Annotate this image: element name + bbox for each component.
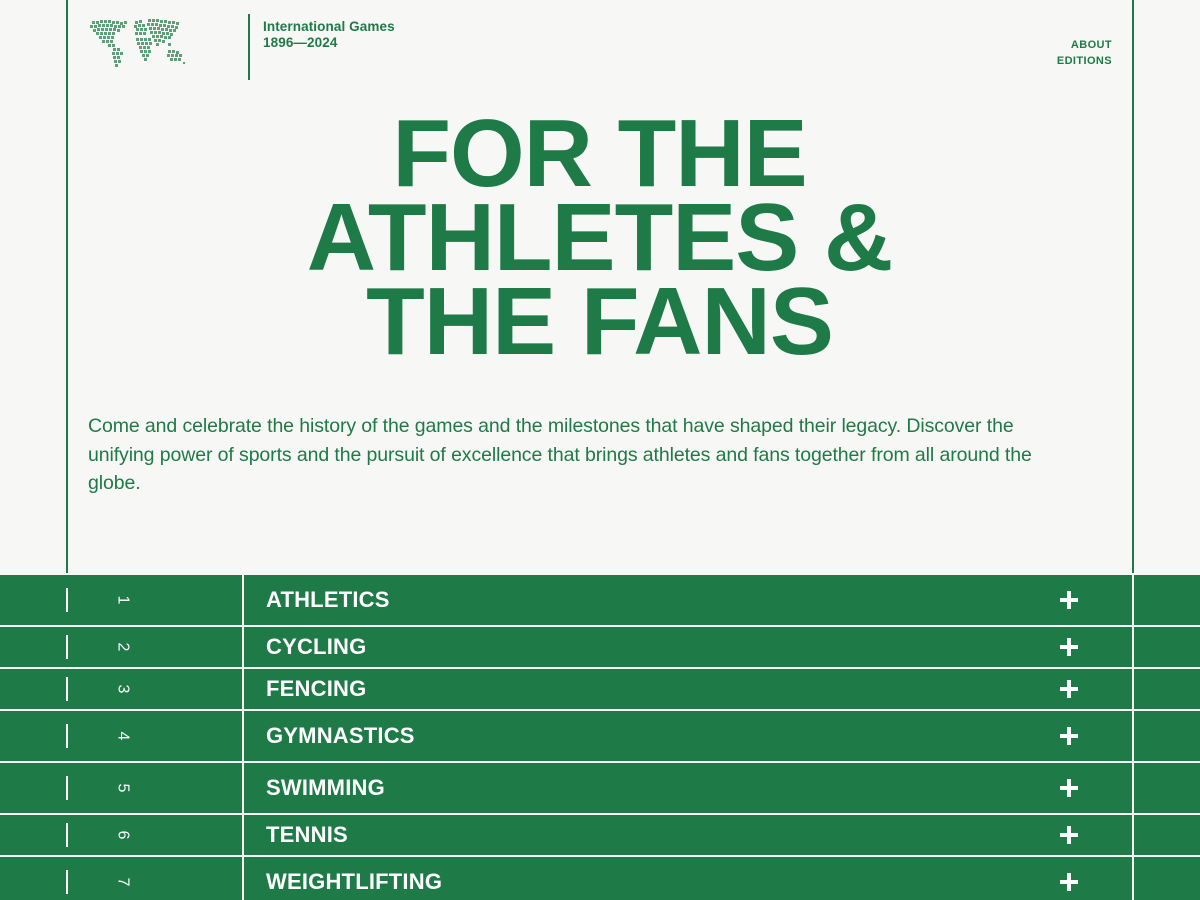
list-item[interactable]: 7 WEIGHTLIFTING xyxy=(0,857,1200,900)
row-number: 1 xyxy=(0,591,244,609)
site-header: International Games 1896—2024 ABOUT EDIT… xyxy=(0,0,1200,95)
row-label: SWIMMING xyxy=(244,775,1200,801)
sports-list: 1 ATHLETICS 2 CYCLING 3 FENCING xyxy=(0,573,1200,900)
row-label: GYMNASTICS xyxy=(244,723,1200,749)
row-right-rule xyxy=(1132,857,1134,900)
row-number: 5 xyxy=(0,779,244,797)
list-item[interactable]: 1 ATHLETICS xyxy=(0,575,1200,627)
list-item[interactable]: 6 TENNIS xyxy=(0,815,1200,857)
row-label: CYCLING xyxy=(244,634,1200,660)
row-number-cell: 7 xyxy=(0,857,244,900)
page-title: FOR THE ATHLETES & THE FANS xyxy=(67,112,1132,364)
row-right-rule xyxy=(1132,627,1134,667)
row-number: 2 xyxy=(0,638,244,656)
row-label: TENNIS xyxy=(244,822,1200,848)
row-right-rule xyxy=(1132,815,1134,855)
row-number-cell: 5 xyxy=(0,763,244,813)
brand-line-1: International Games xyxy=(263,19,395,35)
row-number-cell: 6 xyxy=(0,815,244,855)
row-number-text: 1 xyxy=(113,596,131,605)
row-number-cell: 1 xyxy=(0,575,244,625)
nav-link-editions[interactable]: EDITIONS xyxy=(1057,53,1112,69)
page-root: International Games 1896—2024 ABOUT EDIT… xyxy=(0,0,1200,900)
row-right-rule xyxy=(1132,575,1134,625)
list-item[interactable]: 4 GYMNASTICS xyxy=(0,711,1200,763)
row-number-text: 7 xyxy=(113,878,131,887)
row-right-rule xyxy=(1132,669,1134,709)
brand-divider xyxy=(248,14,250,80)
plus-icon[interactable] xyxy=(1060,591,1078,609)
row-right-rule xyxy=(1132,763,1134,813)
plus-icon[interactable] xyxy=(1060,826,1078,844)
list-item[interactable]: 3 FENCING xyxy=(0,669,1200,711)
row-number: 4 xyxy=(0,727,244,745)
row-number-text: 6 xyxy=(113,831,131,840)
list-item[interactable]: 2 CYCLING xyxy=(0,627,1200,669)
plus-icon[interactable] xyxy=(1060,727,1078,745)
list-item[interactable]: 5 SWIMMING xyxy=(0,763,1200,815)
plus-icon[interactable] xyxy=(1060,680,1078,698)
row-number-text: 5 xyxy=(113,784,131,793)
plus-icon[interactable] xyxy=(1060,873,1078,891)
plus-icon[interactable] xyxy=(1060,779,1078,797)
row-number-text: 4 xyxy=(113,732,131,741)
row-label: FENCING xyxy=(244,676,1200,702)
row-number: 3 xyxy=(0,680,244,698)
row-number-cell: 2 xyxy=(0,627,244,667)
hero-description: Come and celebrate the history of the ga… xyxy=(88,412,1063,498)
brand-line-2: 1896—2024 xyxy=(263,35,395,51)
nav-link-about[interactable]: ABOUT xyxy=(1057,37,1112,53)
row-number: 7 xyxy=(0,873,244,891)
row-right-rule xyxy=(1132,711,1134,761)
row-number-cell: 3 xyxy=(0,669,244,709)
row-number: 6 xyxy=(0,826,244,844)
brand-title: International Games 1896—2024 xyxy=(263,19,395,51)
row-number-text: 2 xyxy=(113,643,131,652)
page-title-line-3: THE FANS xyxy=(67,280,1132,364)
row-number-cell: 4 xyxy=(0,711,244,761)
row-label: WEIGHTLIFTING xyxy=(244,869,1200,895)
main-nav: ABOUT EDITIONS xyxy=(1057,37,1112,69)
row-number-text: 3 xyxy=(113,685,131,694)
row-label: ATHLETICS xyxy=(244,587,1200,613)
plus-icon[interactable] xyxy=(1060,638,1078,656)
world-map-icon xyxy=(88,14,190,68)
